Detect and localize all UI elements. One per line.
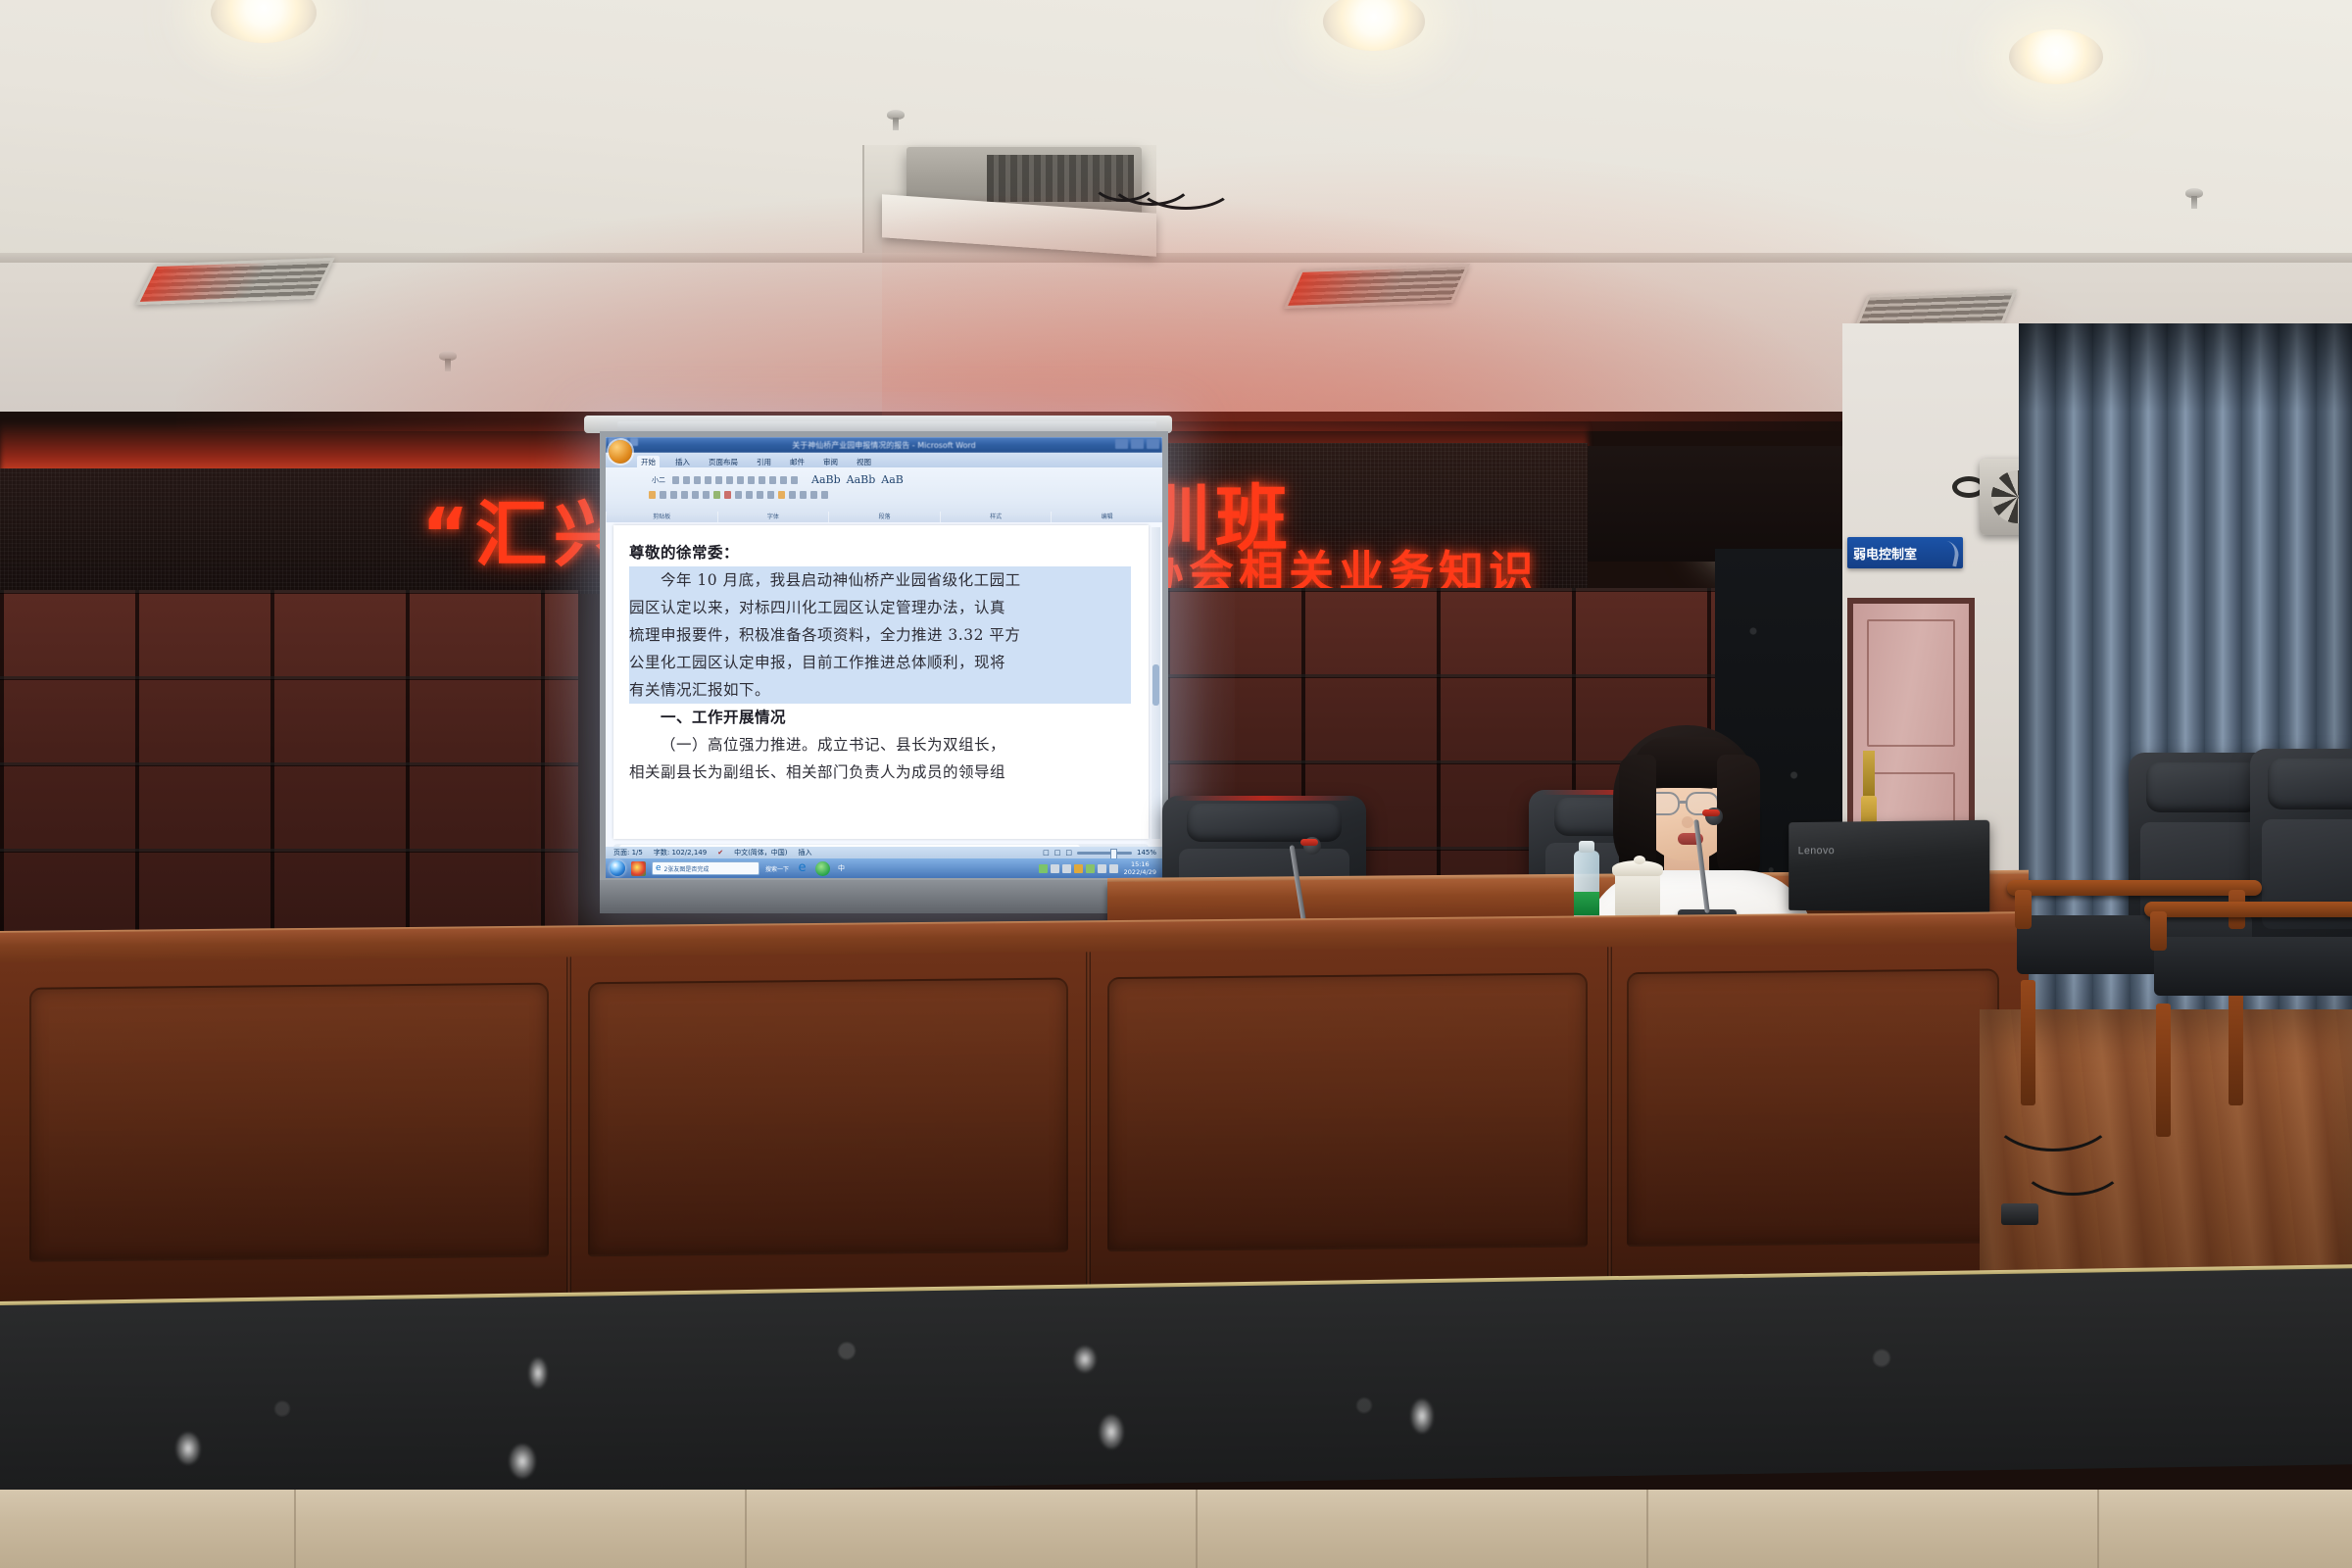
doc-line: 梳理申报要件，积极准备各项资料，全力推进 3.32 平方 [629,621,1131,649]
bold-icon[interactable] [649,491,656,499]
tray-icon-5[interactable] [1086,864,1095,873]
search-button[interactable]: 搜索一下 [765,864,789,873]
podium-seam-2 [1086,952,1091,1295]
font-size-value[interactable]: 小二 [652,475,665,485]
tile-seam-3 [1196,1490,1198,1568]
multilevel-list-icon[interactable] [748,476,755,484]
tray-network-icon[interactable] [1109,864,1118,873]
clear-format-icon[interactable] [694,476,701,484]
font-color-icon[interactable] [724,491,731,499]
view-fullscreen-icon[interactable]: □ [1054,849,1061,857]
word-document-page[interactable]: 尊敬的徐常委： 今年 10 月底，我县启动神仙桥产业园省级化工园工 园区认定以来… [613,525,1149,839]
conference-room-scene: “汇兴 训班 办会相关业务知识 弱电控制室 关于神仙桥产业园申报情况的报告 - … [0,0,2352,1568]
projection-screen-surface: 关于神仙桥产业园申报情况的报告 - Microsoft Word 开始 插入 页… [606,437,1162,878]
bottle-label [1574,892,1599,915]
status-view-controls[interactable]: □ □ □ 145% [1043,849,1162,857]
armchair-post-left-1 [2015,890,2032,929]
windows-start-icon[interactable] [610,860,625,876]
tab-mailings[interactable]: 邮件 [787,457,808,467]
projector-cable-3 [1090,155,1158,202]
ribbon-group-labels: 剪贴板 字体 段落 样式 编辑 [606,512,1162,522]
microphone-red-ring-right [1702,809,1720,816]
borders-icon[interactable] [821,491,828,499]
control-room-sign: 弱电控制室 [1847,537,1963,568]
italic-icon[interactable] [660,491,666,499]
soffit-edge-trim [0,253,2352,263]
floor-cable-2 [2019,1127,2127,1196]
word-status-bar: 页面: 1/5 字数: 102/2,149 ✔ 中文(简体，中国) 插入 □ □… [606,847,1162,858]
wall-dark-band-right [1588,446,1852,562]
view-print-layout-icon[interactable]: □ [1043,849,1050,857]
doc-line: （一）高位强力推进。成立书记、县长为双组长， [629,731,1131,759]
chair-red-trim [1174,796,1353,801]
bullets-icon[interactable] [726,476,733,484]
armchair-armrest-1 [2007,880,2262,896]
zoom-slider[interactable] [1077,852,1132,855]
clock-time: 15:16 [1131,860,1150,868]
ceiling-soffit [0,0,2352,260]
microphone-red-ring-left [1300,839,1318,846]
phonetic-guide-icon[interactable] [705,476,711,484]
show-marks-icon[interactable] [791,476,798,484]
sign-swoosh-icon [1932,539,1961,567]
podium-panel-4 [1627,968,1999,1247]
sort-icon[interactable] [780,476,787,484]
superscript-icon[interactable] [703,491,710,499]
podium-seam-3 [1607,947,1612,1290]
doc-line: 一、工作开展情况 [629,704,1131,731]
fire-sprinkler-2 [439,351,457,361]
ac-vent-center [1284,264,1470,309]
status-zoom[interactable]: 145% [1137,849,1156,857]
laptop-brand-label: Lenovo [1798,845,1835,857]
close-icon[interactable] [1147,439,1159,449]
doc-line: 公里化工园区认定申报，目前工作推进总体顺利，现将 [629,649,1131,676]
align-left-icon[interactable] [746,491,753,499]
align-right-icon[interactable] [767,491,774,499]
doc-line: 今年 10 月底，我县启动神仙桥产业园省级化工园工 [629,566,1131,594]
text-effects-icon[interactable] [735,491,742,499]
door-lock-plate [1863,751,1875,796]
doc-line: 尊敬的徐常委： [629,539,1131,566]
tile-seam-1 [294,1490,296,1568]
tab-insert[interactable]: 插入 [672,457,693,467]
scroll-thumb[interactable] [1152,664,1159,706]
armchair-leg-left-2 [2156,1004,2171,1137]
word-document-title: 关于神仙桥产业园申报情况的报告 - Microsoft Word [792,440,975,451]
tab-review[interactable]: 审阅 [820,457,841,467]
floor-cable-box [2001,1203,2038,1225]
floor-reflection-2 [510,1445,535,1478]
floor-reflection-4 [1100,1415,1123,1448]
doc-line: 相关副县长为副组长、相关部门负责人为成员的领导组 [629,759,1131,786]
windows-taskbar[interactable]: e 2张友图是否完成 搜索一下 e 中 15:16 2022/4/29 [606,858,1162,878]
eyeglasses-bridge [1680,801,1688,804]
minimize-icon[interactable] [1115,439,1128,449]
tray-icon-4[interactable] [1074,864,1083,873]
style-nospace[interactable]: AaBb [847,473,876,486]
distribute-icon[interactable] [789,491,796,499]
tray-icon-2[interactable] [1051,864,1059,873]
tray-icon-1[interactable] [1039,864,1048,873]
style-gallery[interactable]: AaBb AaBb AaB [811,473,904,486]
tab-view[interactable]: 视图 [854,457,874,467]
ime-indicator[interactable]: 中 [838,863,845,873]
word-title-bar: 关于神仙桥产业园申报情况的报告 - Microsoft Word [606,437,1162,453]
tea-cup-knob [1634,856,1645,864]
group-font: 字体 [717,512,829,522]
word-ribbon[interactable]: 小二 AaBb AaBb AaB [606,467,1162,522]
padded-leather-wall-left [0,590,578,953]
tab-home[interactable]: 开始 [637,456,660,467]
armchair-post-left-2 [2150,911,2167,951]
browser-green-icon[interactable] [815,861,830,876]
curtain-top-shadow [2019,323,2352,412]
podium-seam-1 [566,956,571,1299]
status-page: 页面: 1/5 [613,848,643,857]
tile-seam-5 [2097,1490,2099,1568]
armchair-armrest-2 [2144,902,2352,917]
word-ribbon-tabs[interactable]: 开始 插入 页面布局 引用 邮件 审阅 视图 [606,453,1162,467]
browser-e-icon: e [656,863,661,873]
internet-explorer-icon[interactable]: e [795,861,809,876]
text-highlight-icon[interactable] [713,491,720,499]
podium-panel-2 [588,978,1068,1257]
wooden-armchair-2[interactable] [2144,902,2352,1137]
window-controls[interactable] [1115,439,1159,449]
status-language: 中文(简体，中国) [734,848,787,857]
podium-panel-1 [29,983,549,1262]
char-border-icon[interactable] [715,476,722,484]
podium-front-face [0,943,2029,1305]
system-tray[interactable]: 15:16 2022/4/29 [1039,860,1158,876]
podium-panel-3 [1107,972,1588,1251]
lenovo-laptop[interactable]: Lenovo [1788,820,1989,913]
tab-references[interactable]: 引用 [754,457,774,467]
tile-seam-2 [745,1490,747,1568]
search-input-value[interactable]: 2张友图是否完成 [664,864,710,873]
vertical-scrollbar[interactable] [1151,527,1160,839]
doc-line: 有关情况汇报如下。 [629,676,1131,704]
bottle-cap [1579,841,1594,853]
align-center-icon[interactable] [757,491,763,499]
door-panel-top [1867,619,1955,747]
floor-reflection-5 [1411,1399,1433,1433]
maximize-icon[interactable] [1131,439,1144,449]
speaker-nose [1682,816,1693,828]
group-paragraph: 段落 [828,512,940,522]
chair-headrest-3 [2146,762,2260,812]
tray-icon-3[interactable] [1062,864,1071,873]
chair-headrest [1187,804,1342,842]
status-insert: 插入 [799,848,812,857]
office-orb-icon[interactable] [609,440,632,464]
taskbar-search-box[interactable]: e 2张友图是否完成 [652,861,759,875]
lobby-tile-floor [0,1490,2352,1568]
proofing-icon[interactable]: ✔ [717,849,723,857]
line-spacing-icon[interactable] [800,491,807,499]
underline-icon[interactable] [670,491,677,499]
floor-reflection-3 [1074,1347,1096,1372]
speaker-hair-right [1717,755,1760,882]
stage-granite-face [0,1268,2352,1501]
view-web-layout-icon[interactable]: □ [1065,849,1072,857]
doc-line: 园区认定以来，对标四川化工园区认定管理办法，认真 [629,594,1131,621]
decrease-indent-icon[interactable] [759,476,765,484]
group-clipboard: 剪贴板 [606,512,717,522]
clock-date: 2022/4/29 [1124,868,1156,876]
media-player-icon[interactable] [631,861,646,876]
control-room-sign-label: 弱电控制室 [1853,544,1917,563]
taskbar-clock[interactable]: 15:16 2022/4/29 [1124,860,1156,876]
justify-icon[interactable] [778,491,785,499]
shading-icon[interactable] [810,491,817,499]
ime-lang-label[interactable]: 中 [838,863,845,873]
armchair-seat-2 [2154,937,2352,996]
increase-indent-icon[interactable] [769,476,776,484]
strikethrough-icon[interactable] [681,491,688,499]
armchair-leg-left-1 [2021,980,2035,1105]
downlight-3 [2009,29,2103,84]
floor-reflection-1 [529,1358,547,1388]
chair-headrest-4 [2268,759,2352,809]
tab-page-layout[interactable]: 页面布局 [706,457,741,467]
group-styles: 样式 [940,512,1052,522]
tray-volume-icon[interactable] [1098,864,1106,873]
grow-font-icon[interactable] [672,476,679,484]
ac-vent-left [135,258,335,305]
fire-sprinkler-1 [887,110,905,120]
ribbon-row-bottom[interactable] [649,491,1156,499]
screen-bottom-bar [600,880,1168,913]
numbering-icon[interactable] [737,476,744,484]
style-heading[interactable]: AaB [881,473,904,486]
tile-seam-4 [1646,1490,1648,1568]
fire-sprinkler-3 [2185,188,2203,198]
subscript-icon[interactable] [692,491,699,499]
ribbon-row-top[interactable]: 小二 AaBb AaBb AaB [649,473,1156,486]
floor-reflection-6 [176,1433,200,1464]
shrink-font-icon[interactable] [683,476,690,484]
style-normal[interactable]: AaBb [811,473,841,486]
redo-icon[interactable] [630,438,638,446]
group-editing: 编辑 [1051,512,1162,522]
status-words: 字数: 102/2,149 [654,848,707,857]
